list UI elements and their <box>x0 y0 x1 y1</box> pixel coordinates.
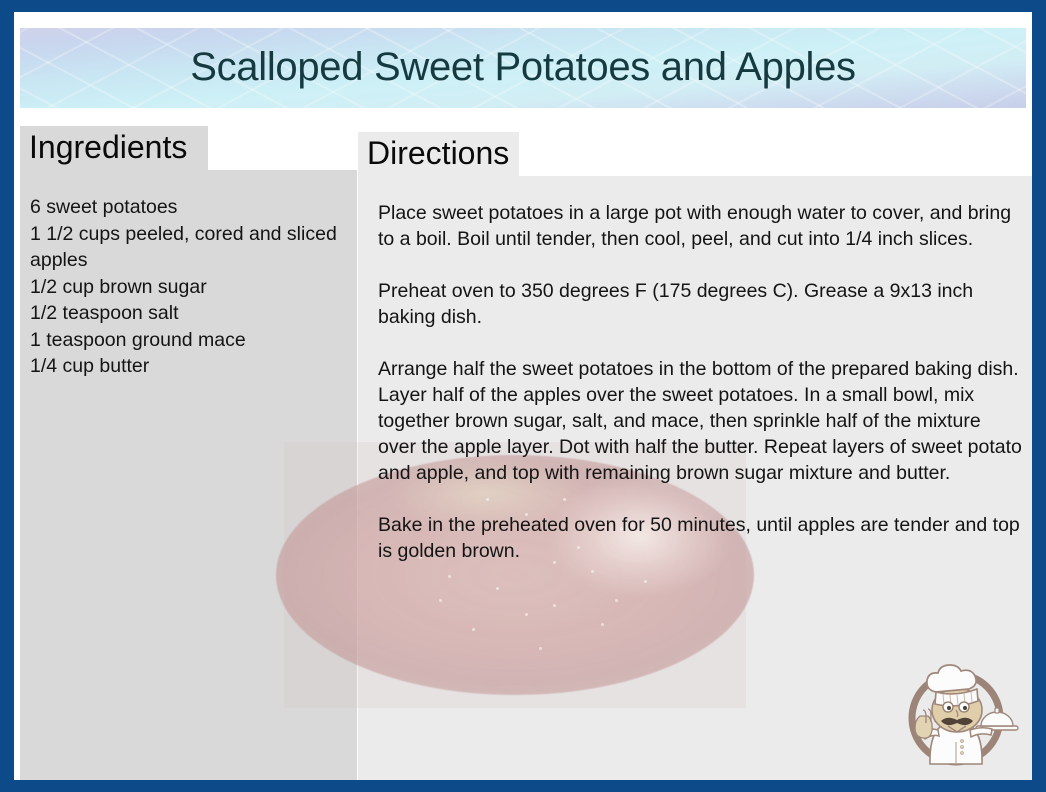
list-item: 1/4 cup butter <box>30 353 343 380</box>
title-banner: Scalloped Sweet Potatoes and Apples <box>20 28 1026 108</box>
chef-hat-icon <box>927 665 978 706</box>
ingredients-list: 6 sweet potatoes 1 1/2 cups peeled, core… <box>30 194 343 380</box>
directions-text: Place sweet potatoes in a large pot with… <box>378 200 1022 564</box>
ingredients-panel: 6 sweet potatoes 1 1/2 cups peeled, core… <box>20 170 357 780</box>
page-title: Scalloped Sweet Potatoes and Apples <box>20 47 1026 87</box>
list-item: 1/2 teaspoon salt <box>30 300 343 327</box>
ingredients-heading-label: Ingredients <box>29 129 187 165</box>
recipe-slide: Scalloped Sweet Potatoes and Apples Ingr… <box>0 0 1046 792</box>
list-item: 1/2 cup brown sugar <box>30 274 343 301</box>
slide-page: Scalloped Sweet Potatoes and Apples Ingr… <box>14 12 1032 780</box>
direction-step: Arrange half the sweet potatoes in the b… <box>378 356 1022 486</box>
direction-step: Preheat oven to 350 degrees F (175 degre… <box>378 278 1022 330</box>
directions-heading-label: Directions <box>367 135 509 171</box>
chef-mascot-logo <box>896 646 1022 772</box>
list-item: 1 1/2 cups peeled, cored and sliced appl… <box>30 221 343 274</box>
direction-step: Place sweet potatoes in a large pot with… <box>378 200 1022 252</box>
direction-step: Bake in the preheated oven for 50 minute… <box>378 512 1022 564</box>
ingredients-heading-tab: Ingredients <box>20 126 208 170</box>
list-item: 1 teaspoon ground mace <box>30 327 343 354</box>
directions-heading-tab: Directions <box>358 132 519 176</box>
list-item: 6 sweet potatoes <box>30 194 343 221</box>
